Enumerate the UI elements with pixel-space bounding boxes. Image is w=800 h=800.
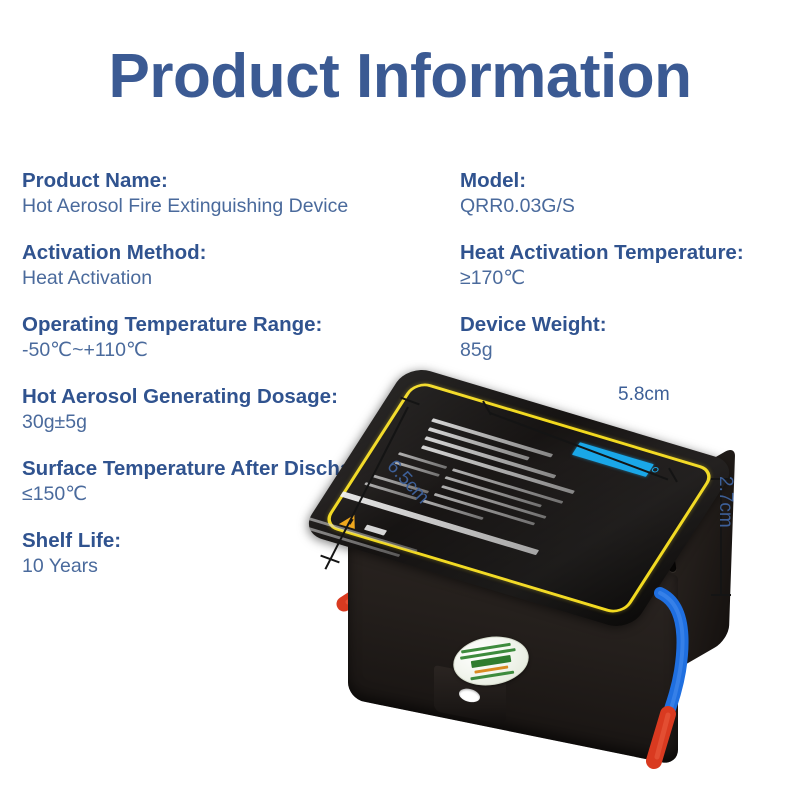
product-information-page: Product Information Product Name: Hot Ae… bbox=[0, 0, 800, 800]
spec-item-model: Model: QRR0.03G/S bbox=[460, 168, 790, 220]
spec-value: -50℃~+110℃ bbox=[22, 338, 462, 364]
product-photo: 5.8cm 6.5cm 2.7cm bbox=[300, 370, 800, 800]
spec-label: Model: bbox=[460, 168, 790, 194]
spec-item-heat-activation-temperature: Heat Activation Temperature: ≥170℃ bbox=[460, 240, 790, 292]
spec-label: Device Weight: bbox=[460, 312, 790, 338]
spec-item-product-name: Product Name: Hot Aerosol Fire Extinguis… bbox=[22, 168, 462, 220]
spec-item-device-weight: Device Weight: 85g bbox=[460, 312, 790, 364]
page-title: Product Information bbox=[0, 46, 800, 108]
mounting-hole-icon bbox=[459, 687, 480, 703]
spec-value: Hot Aerosol Fire Extinguishing Device bbox=[22, 194, 462, 220]
spec-column-right: Model: QRR0.03G/S Heat Activation Temper… bbox=[460, 168, 790, 364]
spec-label: Operating Temperature Range: bbox=[22, 312, 462, 338]
spec-label: Heat Activation Temperature: bbox=[460, 240, 790, 266]
spec-value: Heat Activation bbox=[22, 266, 462, 292]
spec-label: Product Name: bbox=[22, 168, 462, 194]
spec-label: Activation Method: bbox=[22, 240, 462, 266]
spec-item-activation-method: Activation Method: Heat Activation bbox=[22, 240, 462, 292]
spec-item-operating-temperature-range: Operating Temperature Range: -50℃~+110℃ bbox=[22, 312, 462, 364]
dimension-label-width: 5.8cm bbox=[618, 384, 670, 406]
spec-value: QRR0.03G/S bbox=[460, 194, 790, 220]
wire-right bbox=[630, 585, 800, 785]
spec-value: ≥170℃ bbox=[460, 266, 790, 292]
dimension-label-height: 2.7cm bbox=[714, 476, 736, 528]
spec-value: 85g bbox=[460, 338, 790, 364]
